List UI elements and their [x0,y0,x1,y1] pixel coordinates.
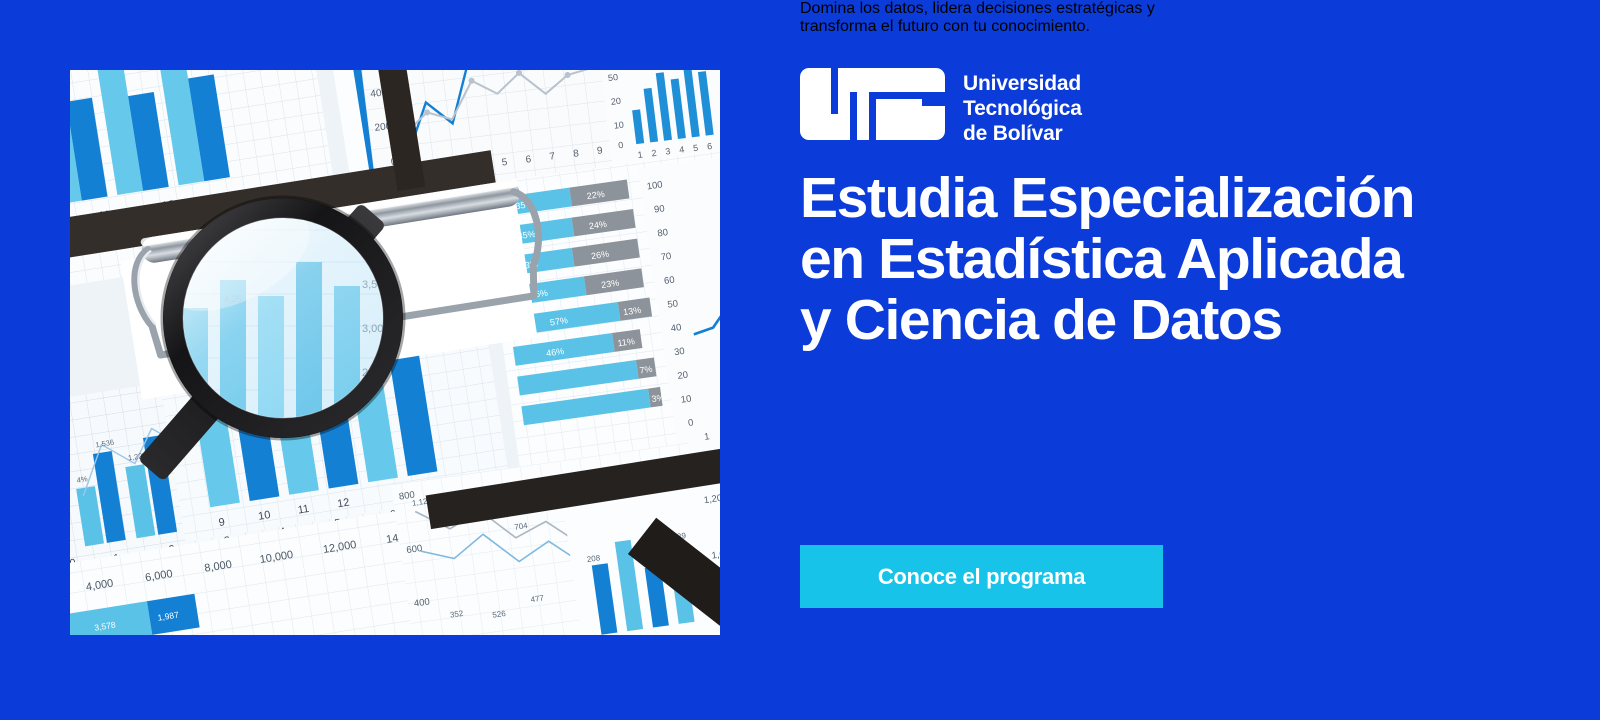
svg-text:50: 50 [667,298,679,310]
svg-text:208: 208 [586,553,601,564]
svg-text:80: 80 [657,227,669,239]
brand-wordmark: Universidad Tecnológica de Bolívar [963,68,1082,146]
svg-text:704: 704 [514,521,529,532]
svg-text:12: 12 [336,497,350,511]
svg-text:352: 352 [449,609,464,620]
page-title: Estudia Especialización en Estadística A… [800,168,1540,351]
svg-text:1,200: 1,200 [703,492,720,506]
svg-text:10: 10 [613,120,624,131]
svg-text:800: 800 [398,489,415,502]
subtitle-line-1: Domina los datos, lidera decisiones estr… [800,0,1560,18]
svg-text:600: 600 [406,543,423,556]
svg-text:50: 50 [607,72,618,83]
svg-text:1,000: 1,000 [711,547,720,561]
utb-monogram-icon [800,68,945,140]
svg-text:4%: 4% [76,474,88,485]
svg-text:30: 30 [673,346,685,358]
svg-text:40: 40 [670,322,682,334]
headline-line-1: Estudia Especialización [800,168,1540,229]
svg-text:400: 400 [413,596,430,609]
hero-content: Universidad Tecnológica de Bolívar Estud… [800,0,1560,720]
brand-logo[interactable]: Universidad Tecnológica de Bolívar [800,68,1082,146]
svg-text:477: 477 [530,593,545,604]
svg-text:20: 20 [610,96,621,107]
svg-text:70: 70 [660,251,672,263]
svg-text:90: 90 [653,203,665,215]
svg-text:100: 100 [646,179,663,192]
svg-text:60: 60 [663,275,675,287]
subtitle-line-2: transforma el futuro con tu conocimiento… [800,18,1560,36]
svg-text:10: 10 [257,509,271,523]
brand-name-line-2: Tecnológica [963,96,1082,121]
brand-name-line-3: de Bolívar [963,121,1082,146]
brand-name-line-1: Universidad [963,71,1082,96]
svg-text:11: 11 [297,503,310,517]
headline-line-2: en Estadística Aplicada [800,229,1540,290]
svg-text:3%: 3% [651,392,665,404]
hero-photo: 4% 1,536 1,225 987 1,254 1,178 0 1 2 3 4… [70,70,720,635]
headline-line-3: y Ciencia de Datos [800,290,1540,351]
svg-text:10: 10 [680,393,692,405]
cta-button[interactable]: Conoce el programa [800,545,1163,608]
svg-text:526: 526 [492,609,507,620]
hero-photo-illustration: 4% 1,536 1,225 987 1,254 1,178 0 1 2 3 4… [70,70,720,635]
svg-text:20: 20 [677,370,689,382]
svg-text:7%: 7% [639,364,653,376]
